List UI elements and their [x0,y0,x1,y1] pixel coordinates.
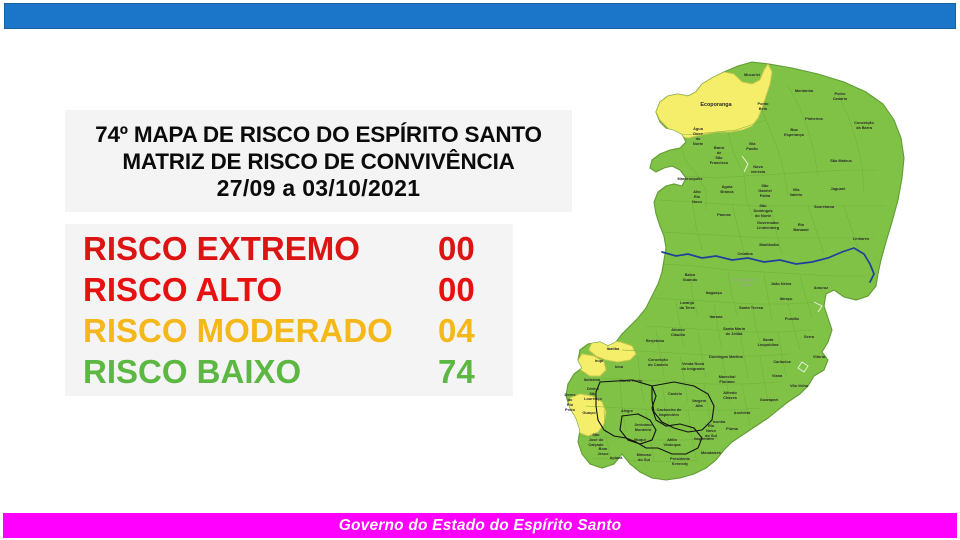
svg-text:Piúma: Piúma [726,426,739,431]
svg-text:Marataízes: Marataízes [701,450,721,455]
svg-text:Chaves: Chaves [723,395,737,400]
svg-text:Colatina: Colatina [737,251,753,256]
svg-text:de Jetibá: de Jetibá [726,331,744,336]
svg-text:Monteiro: Monteiro [635,427,652,432]
svg-text:Vivácqua: Vivácqua [663,442,681,447]
svg-text:Guandu: Guandu [683,277,698,282]
svg-text:Anchieta: Anchieta [734,410,751,415]
risk-label-moderado: RISCO MODERADO [83,312,438,350]
svg-text:Preto: Preto [565,407,576,412]
risk-count-alto: 00 [438,271,475,309]
svg-text:Pinheiros: Pinheiros [805,116,823,121]
risk-label-baixo: RISCO BAIXO [83,353,438,391]
svg-text:São Mateus: São Mateus [830,158,852,163]
svg-text:Ibiraçu: Ibiraçu [780,296,793,301]
svg-text:Iconha: Iconha [713,419,726,424]
risk-count-moderado: 04 [438,312,475,350]
title-date-range: 27/09 a 03/10/2021 [217,175,421,202]
svg-text:Ibitirama: Ibitirama [584,377,601,382]
svg-text:Cariacica: Cariacica [773,359,791,364]
svg-text:Lindemberg: Lindemberg [757,225,780,230]
title-line-2: MATRIZ DE RISCO DE CONVIVÊNCIA [122,148,514,175]
svg-text:da Barra: da Barra [856,125,873,130]
svg-text:da Terra: da Terra [679,305,695,310]
svg-text:Jesus: Jesus [597,451,608,456]
risk-summary-block: RISCO EXTREMO 00 RISCO ALTO 00 RISCO MOD… [65,224,513,396]
svg-text:Bananal: Bananal [793,227,808,232]
svg-text:Vila Velha: Vila Velha [790,383,809,388]
svg-text:Cláudio: Cláudio [671,332,686,337]
svg-text:Linhares: Linhares [853,236,869,241]
svg-text:Alta: Alta [695,403,703,408]
risk-row-alto: RISCO ALTO 00 [65,271,513,312]
svg-text:Lourenço: Lourenço [584,396,602,401]
svg-text:do Imigrante: do Imigrante [681,366,705,371]
svg-text:Marilândia: Marilândia [759,242,779,247]
svg-text:João Neiva: João Neiva [771,281,792,286]
svg-text:Domingos Martins: Domingos Martins [709,354,743,359]
svg-text:Canaã: Canaã [739,282,752,287]
svg-text:Pancas: Pancas [717,212,731,217]
svg-text:Itaguaçu: Itaguaçu [706,290,723,295]
svg-text:do Sul: do Sul [638,457,650,462]
svg-text:Floriano: Floriano [719,379,735,384]
svg-text:Santa Teresa: Santa Teresa [739,305,764,310]
svg-text:Canário: Canário [833,96,848,101]
svg-text:Aracruz: Aracruz [814,285,829,290]
risk-label-extremo: RISCO EXTREMO [83,230,438,268]
svg-text:Mucurici: Mucurici [744,72,760,77]
svg-text:Branca: Branca [720,189,734,194]
svg-text:Viana: Viana [772,373,783,378]
svg-text:Novo: Novo [692,199,702,204]
svg-text:Kennedy: Kennedy [672,461,689,466]
risk-count-baixo: 74 [438,353,475,391]
svg-text:Palha: Palha [760,193,771,198]
risk-row-baixo: RISCO BAIXO 74 [65,353,513,394]
svg-text:Montanha: Montanha [795,88,814,93]
espirito-santo-risk-map: Mucurici Montanha Pedro Canário Ecoporan… [556,50,956,498]
svg-text:Guarapari: Guarapari [760,397,778,402]
svg-text:Francisco: Francisco [710,160,729,165]
svg-text:Vitória: Vitória [813,354,826,359]
svg-text:Apiacá: Apiacá [610,455,624,460]
svg-text:Castelo: Castelo [668,391,683,396]
svg-text:Itapemirim: Itapemirim [659,412,679,417]
svg-text:Esperança: Esperança [784,132,805,137]
risk-label-alto: RISCO ALTO [83,271,438,309]
svg-text:Jaguaré: Jaguaré [831,186,847,191]
svg-text:do Norte: do Norte [755,213,772,218]
footer-bar: Governo do Estado do Espírito Santo [3,513,957,538]
svg-text:Muqui: Muqui [634,437,645,442]
svg-text:Irupi: Irupi [595,358,603,363]
svg-text:Leopoldina: Leopoldina [758,342,780,347]
top-accent-bar [4,3,956,29]
svg-text:Fundão: Fundão [785,316,800,321]
svg-text:Iúna: Iúna [615,364,624,369]
svg-text:Norte: Norte [693,141,704,146]
svg-text:Serra: Serra [804,334,815,339]
title-line-1: 74º MAPA DE RISCO DO ESPÍRITO SANTO [95,121,542,148]
svg-text:Sooretama: Sooretama [814,204,835,209]
svg-text:Muniz Freire: Muniz Freire [620,378,644,383]
svg-text:Alegre: Alegre [621,408,634,413]
svg-text:do Castelo: do Castelo [648,362,669,367]
footer-text: Governo do Estado do Espírito Santo [339,517,622,535]
risk-row-moderado: RISCO MODERADO 04 [65,312,513,353]
svg-text:Brejetuba: Brejetuba [646,338,665,343]
svg-text:venécia: venécia [751,169,766,174]
svg-text:Itarana: Itarana [710,314,724,319]
svg-text:Ibatiba: Ibatiba [607,346,620,351]
svg-text:Belo: Belo [759,106,768,111]
svg-text:Mantenópolis: Mantenópolis [677,176,702,181]
svg-text:Guaçuí: Guaçuí [582,410,596,415]
title-block: 74º MAPA DE RISCO DO ESPÍRITO SANTO MATR… [65,110,572,212]
svg-text:Ecoporanga: Ecoporanga [700,102,732,108]
svg-text:Itapemirim: Itapemirim [694,436,714,441]
risk-count-extremo: 00 [438,230,475,268]
svg-text:Pavão: Pavão [746,146,758,151]
risk-row-extremo: RISCO EXTREMO 00 [65,230,513,271]
svg-text:Valério: Valério [790,192,803,197]
